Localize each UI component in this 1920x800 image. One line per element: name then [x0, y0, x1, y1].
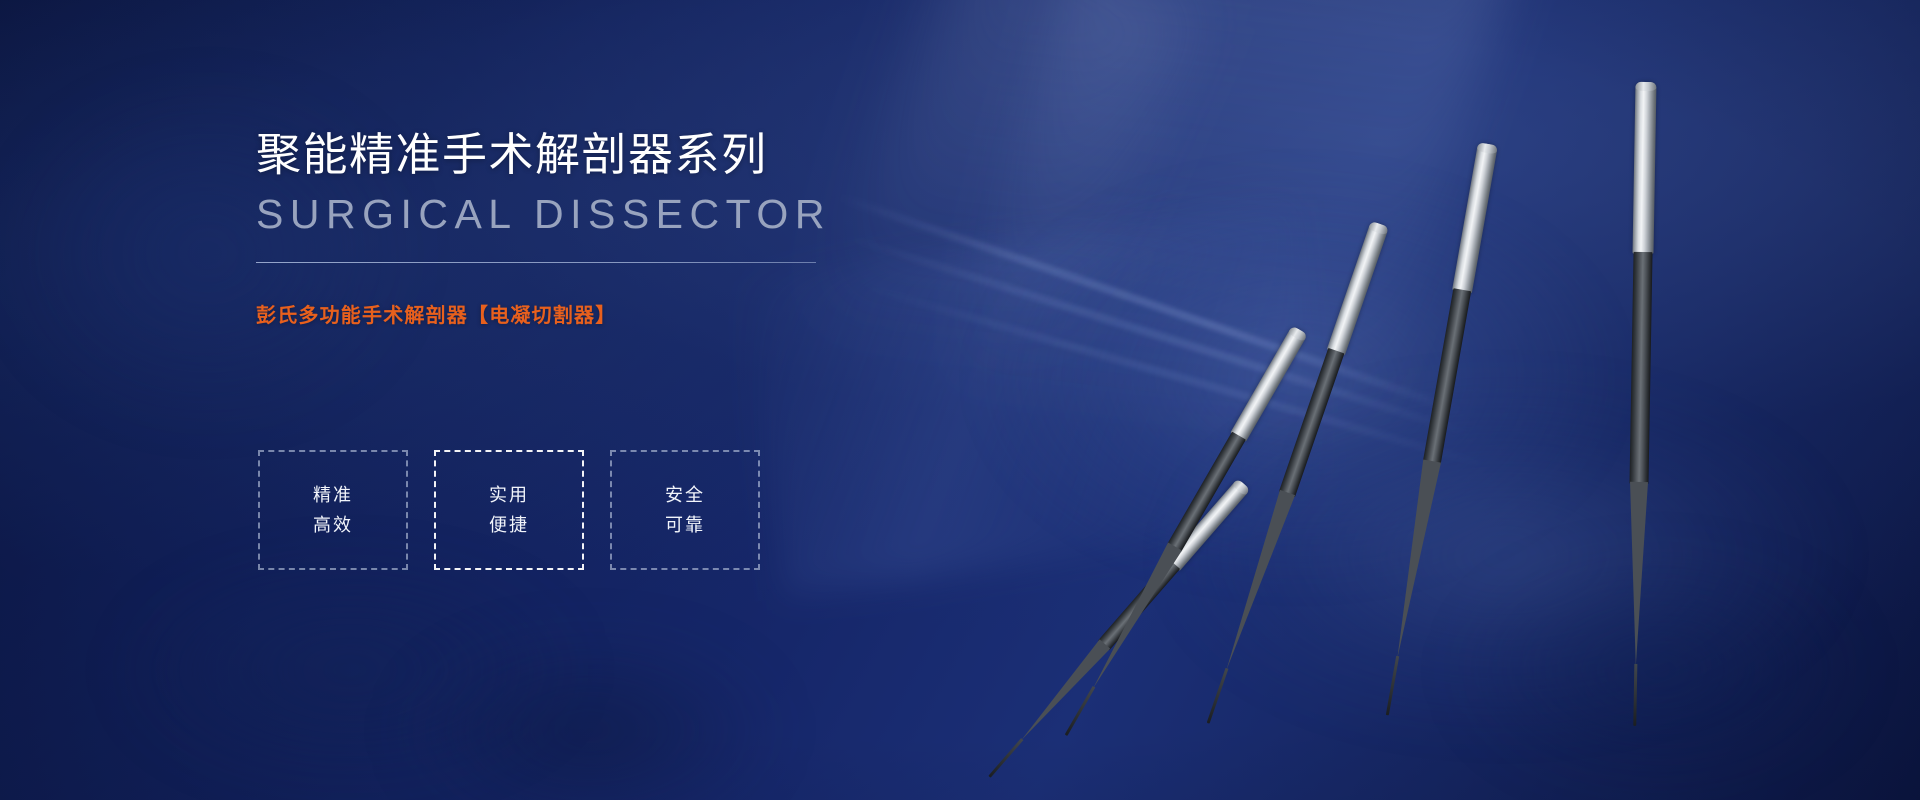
probe-1-tip — [988, 738, 1023, 778]
probe-3-shaft — [1279, 348, 1345, 497]
probe-4-metal-handle — [1452, 142, 1498, 293]
background-blob-bottom-center — [330, 600, 850, 800]
title-divider — [256, 262, 816, 263]
product-hero-banner: 聚能精准手术解剖器系列 SURGICAL DISSECTOR 彭氏多功能手术解剖… — [0, 0, 1920, 800]
feature-box-precision-line1: 精准 — [313, 486, 353, 504]
probe-5-tip — [1633, 664, 1637, 726]
probe-4-taper — [1388, 460, 1440, 660]
probe-5-metal-handle — [1632, 82, 1656, 254]
probe-1-shaft — [1098, 559, 1180, 650]
feature-box-group: 精准 高效 实用 便捷 安全 可靠 — [258, 450, 760, 570]
feature-box-precision-line2: 高效 — [313, 516, 353, 534]
probe-4-shaft — [1423, 288, 1471, 464]
probe-3-metal-handle — [1327, 221, 1389, 356]
product-name-accent: 彭氏多功能手术解剖器【电凝切割器】 — [256, 299, 836, 328]
product-image-group — [0, 0, 1920, 800]
probe-2-tip — [1065, 686, 1096, 736]
page-title: 聚能精准手术解剖器系列 — [256, 128, 836, 181]
probe-1-taper — [1016, 639, 1111, 745]
feature-box-safety-line1: 安全 — [665, 486, 705, 504]
feature-box-practical-line1: 实用 — [489, 486, 529, 504]
probe-3-taper — [1219, 490, 1295, 673]
feature-box-practical-line2: 便捷 — [489, 516, 529, 534]
ghost-gloved-hand-secondary — [1160, 380, 1880, 800]
probe-3-tip — [1207, 668, 1229, 724]
ghost-gloved-hand — [980, 120, 1740, 680]
probe-4-tip — [1386, 656, 1399, 716]
light-beam — [908, 0, 1532, 625]
headline-block: 聚能精准手术解剖器系列 SURGICAL DISSECTOR 彭氏多功能手术解剖… — [256, 128, 836, 328]
probe-2-metal-handle — [1230, 326, 1308, 442]
ghost-forceps — [837, 193, 1464, 415]
background-blob-bottom-right — [1390, 520, 1920, 800]
probe-2-taper — [1086, 543, 1182, 693]
feature-box-practical[interactable]: 实用 便捷 — [434, 450, 584, 570]
vignette-overlay — [0, 0, 1920, 800]
feature-box-safety-line2: 可靠 — [665, 516, 705, 534]
probe-2-shaft — [1167, 432, 1246, 553]
page-subtitle-english: SURGICAL DISSECTOR — [256, 191, 836, 238]
probe-5-shaft — [1629, 252, 1652, 484]
probe-1-metal-handle — [1167, 478, 1251, 571]
probe-5-taper — [1627, 482, 1648, 666]
ghost-forceps-tertiary — [857, 281, 1494, 471]
background-layer — [0, 0, 1920, 800]
feature-box-precision[interactable]: 精准 高效 — [258, 450, 408, 570]
feature-box-safety[interactable]: 安全 可靠 — [610, 450, 760, 570]
ghost-forceps-secondary — [844, 233, 1476, 439]
